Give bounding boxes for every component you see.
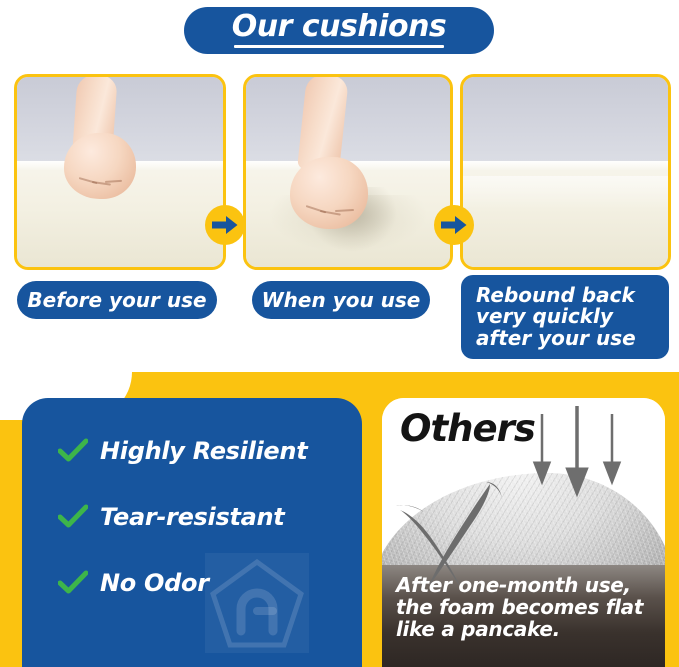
others-caption-line-2: the foam becomes flat (396, 596, 643, 618)
caption-during: When you use (252, 281, 430, 319)
right-arrow-icon (434, 205, 474, 245)
fist (290, 157, 368, 229)
check-icon (58, 504, 88, 530)
others-caption: After one-month use, the foam becomes fl… (396, 574, 643, 640)
down-arrow-icon (530, 406, 640, 506)
features-card: Highly Resilient Tear-resistant No Odor (22, 398, 362, 667)
caption-before: Before your use (17, 281, 217, 319)
title-underline (234, 45, 444, 48)
photo-background-wall (463, 77, 668, 166)
foam-photo-before (17, 77, 223, 267)
others-title: Others (400, 410, 535, 447)
demo-panel-before (14, 74, 226, 270)
page-title: Our cushions (232, 12, 447, 42)
demo-panel-during (243, 74, 453, 270)
photo-background-wall (246, 77, 450, 166)
caption-after: Rebound back very quickly after your use (461, 275, 669, 359)
check-icon (58, 438, 88, 464)
feature-label: Tear-resistant (100, 503, 284, 531)
feature-label: No Odor (100, 569, 209, 597)
feature-label: Highly Resilient (100, 437, 307, 465)
caption-after-line-1: Rebound back (476, 285, 635, 306)
page-title-banner: Our cushions (184, 7, 494, 54)
others-caption-line-3: like a pancake. (396, 618, 643, 640)
right-arrow-icon (205, 205, 245, 245)
caption-after-line-2: very quickly (476, 306, 613, 327)
pentagon-house-logo (205, 553, 309, 653)
others-caption-line-1: After one-month use, (396, 574, 643, 596)
foam-front-edge (463, 161, 668, 171)
feature-item: Highly Resilient (58, 434, 348, 468)
foam-photo-during (246, 77, 450, 267)
fist (64, 133, 136, 199)
check-icon (58, 570, 88, 596)
demo-panel-row (0, 66, 679, 271)
others-card: Others After one-month use, the foam (382, 398, 665, 667)
feature-item: Tear-resistant (58, 500, 348, 534)
caption-after-line-3: after your use (476, 328, 636, 349)
demo-panel-after (460, 74, 671, 270)
foam-photo-after (463, 77, 668, 267)
foam-sheen (463, 176, 668, 210)
